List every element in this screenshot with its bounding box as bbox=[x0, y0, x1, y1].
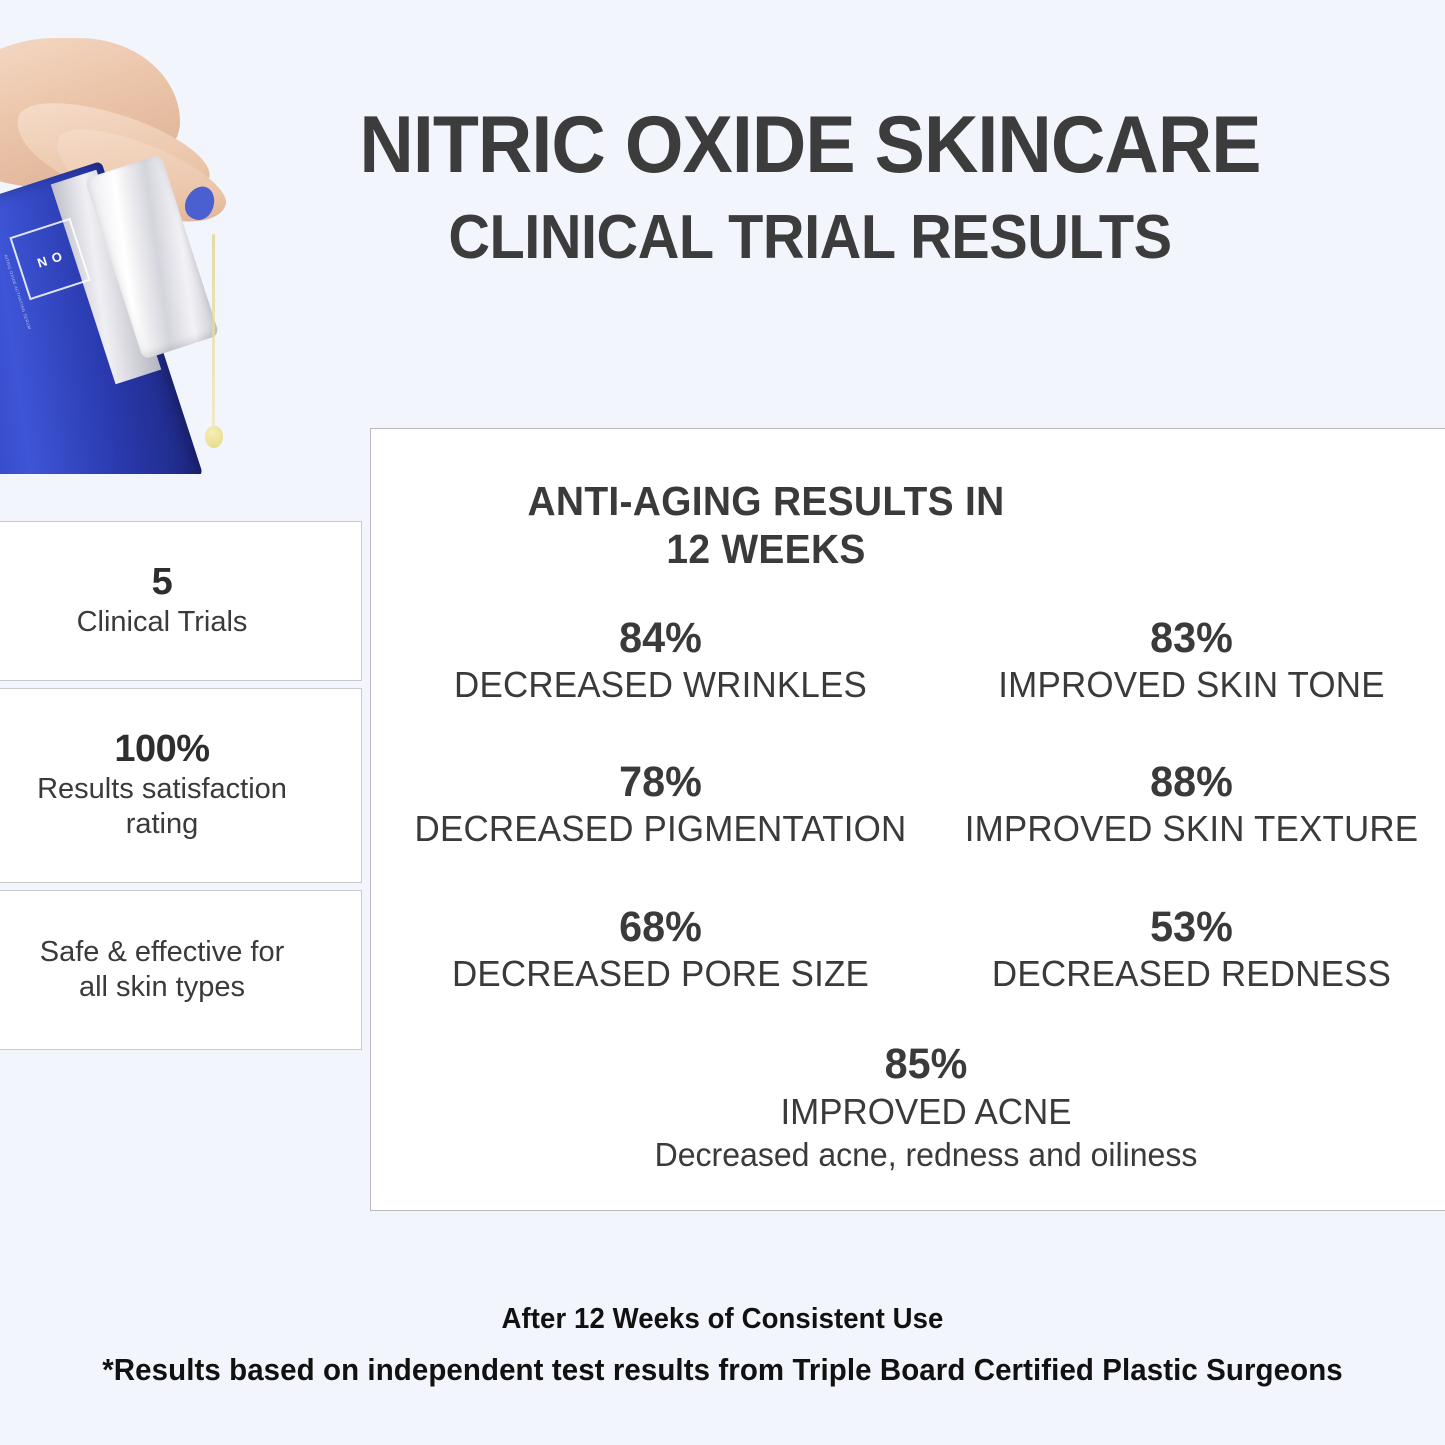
result-label: DECREASED PIGMENTATION bbox=[409, 809, 912, 849]
page-title: NITRIC OXIDE SKINCARE bbox=[289, 104, 1331, 187]
stat-label: Safe & effective for all skin types bbox=[40, 935, 285, 1006]
footer-duration-note: After 12 Weeks of Consistent Use bbox=[36, 1302, 1409, 1337]
header-block: NITRIC OXIDE SKINCARE CLINICAL TRIAL RES… bbox=[250, 104, 1370, 270]
result-item-decreased-wrinkles: 84% DECREASED WRINKLES bbox=[395, 617, 926, 705]
result-label: DECREASED REDNESS bbox=[940, 954, 1443, 994]
result-label: DECREASED WRINKLES bbox=[409, 665, 912, 705]
result-label: IMPROVED ACNE bbox=[388, 1091, 1445, 1132]
result-item-improved-skin-tone: 83% IMPROVED SKIN TONE bbox=[926, 617, 1445, 705]
result-note: Decreased acne, redness and oiliness bbox=[388, 1136, 1445, 1175]
page-subtitle: CLINICAL TRIAL RESULTS bbox=[289, 205, 1331, 270]
stat-value: 100% bbox=[114, 729, 209, 770]
footer: After 12 Weeks of Consistent Use *Result… bbox=[0, 1302, 1445, 1388]
stat-box-skin-types: Safe & effective for all skin types bbox=[0, 890, 362, 1050]
infographic-canvas: N O NITRIC OXIDE ACTIVATING SERUM N O NI… bbox=[0, 0, 1445, 1445]
result-percent: 85% bbox=[393, 1043, 1445, 1086]
result-percent: 83% bbox=[942, 617, 1440, 660]
result-item-improved-skin-texture: 88% IMPROVED SKIN TEXTURE bbox=[926, 761, 1445, 849]
footer-disclaimer: *Results based on independent test resul… bbox=[36, 1351, 1409, 1388]
product-photo-left: N O NITRIC OXIDE ACTIVATING SERUM bbox=[0, 0, 260, 474]
stat-value: 5 bbox=[152, 562, 173, 603]
stat-label: Clinical Trials bbox=[77, 605, 248, 640]
result-label: IMPROVED SKIN TEXTURE bbox=[940, 809, 1443, 849]
result-item-decreased-pore-size: 68% DECREASED PORE SIZE bbox=[395, 906, 926, 994]
serum-drip-left bbox=[212, 234, 215, 432]
results-panel: ANTI-AGING RESULTS IN 12 WEEKS 84% DECRE… bbox=[370, 428, 1445, 1211]
result-label: IMPROVED SKIN TONE bbox=[940, 665, 1443, 705]
result-item-decreased-pigmentation: 78% DECREASED PIGMENTATION bbox=[395, 761, 926, 849]
bottle-logo-subtext-left: NITRIC OXIDE ACTIVATING SERUM bbox=[3, 254, 32, 330]
serum-drop-left bbox=[205, 426, 223, 448]
serum-bottle-left bbox=[0, 161, 203, 474]
result-percent: 88% bbox=[942, 761, 1440, 804]
results-grid: 84% DECREASED WRINKLES 83% IMPROVED SKIN… bbox=[395, 617, 1445, 994]
stat-box-satisfaction: 100% Results satisfaction rating bbox=[0, 688, 362, 883]
result-percent: 53% bbox=[942, 906, 1440, 949]
result-percent: 84% bbox=[411, 617, 909, 660]
stat-label: Results satisfaction rating bbox=[37, 772, 287, 843]
results-panel-title: ANTI-AGING RESULTS IN 12 WEEKS bbox=[391, 477, 1142, 574]
fingernail-left bbox=[180, 182, 219, 224]
result-label: DECREASED PORE SIZE bbox=[409, 954, 912, 994]
stat-box-clinical-trials: 5 Clinical Trials bbox=[0, 521, 362, 681]
bottle-logo-left: N O bbox=[9, 218, 90, 301]
result-percent: 78% bbox=[411, 761, 909, 804]
result-item-decreased-redness: 53% DECREASED REDNESS bbox=[926, 906, 1445, 994]
result-percent: 68% bbox=[411, 906, 909, 949]
result-item-improved-acne: 85% IMPROVED ACNE Decreased acne, rednes… bbox=[371, 1043, 1445, 1175]
